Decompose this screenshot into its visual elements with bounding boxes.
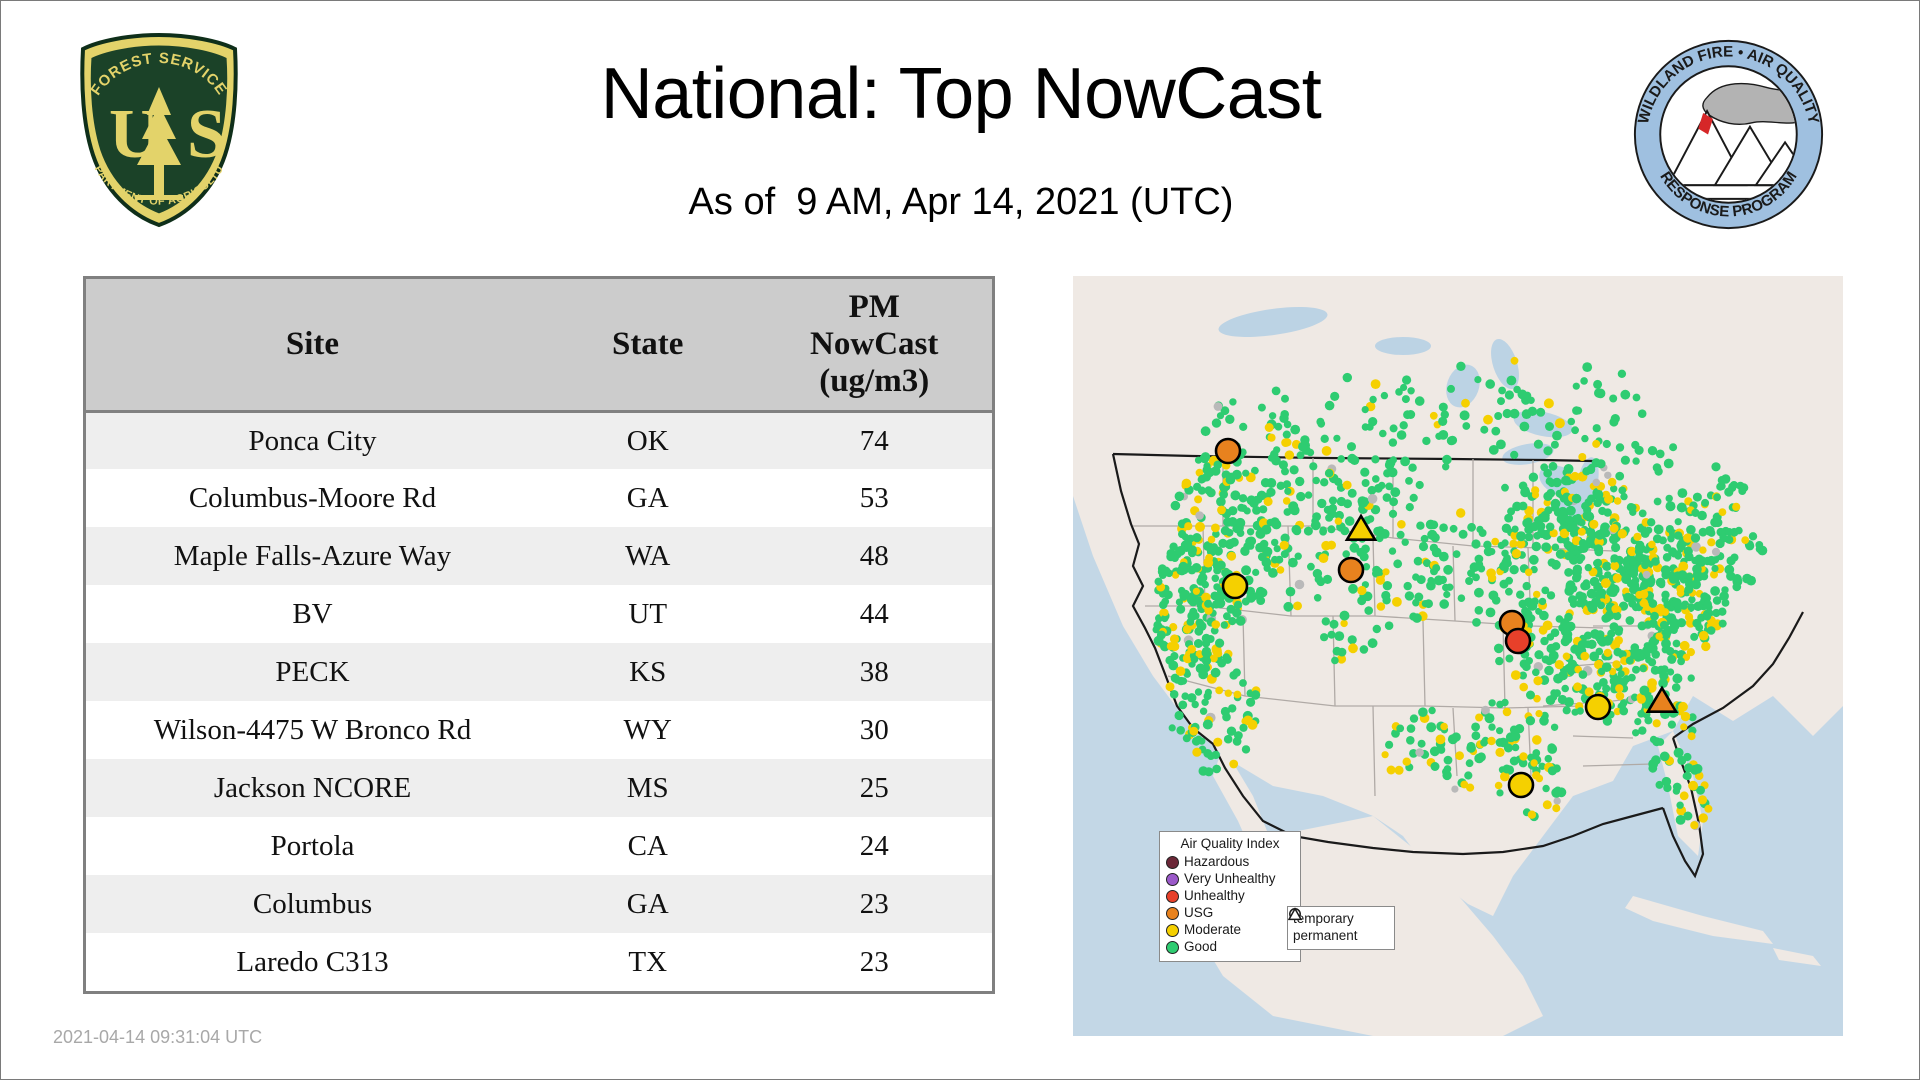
monitor-dot [1641, 562, 1649, 570]
monitor-dot [1662, 777, 1671, 786]
monitor-dot [1439, 523, 1448, 532]
monitor-dot [1247, 495, 1257, 505]
monitor-dot [1540, 637, 1548, 645]
monitor-dot [1639, 665, 1647, 673]
monitor-dot [1611, 543, 1620, 552]
monitor-dot [1187, 693, 1196, 702]
monitor-dot [1501, 484, 1509, 492]
monitor-dot [1192, 612, 1200, 620]
site-cell: BV [86, 585, 539, 643]
site-cell: PECK [86, 643, 539, 701]
monitor-dot [1578, 640, 1587, 649]
monitor-dot [1407, 387, 1414, 394]
monitor-dot [1467, 523, 1476, 532]
monitor-dot [1673, 640, 1681, 648]
monitor-dot [1531, 597, 1539, 605]
monitor-dot [1639, 510, 1647, 518]
legend-label-temporary: temporary [1293, 911, 1354, 927]
table-row: BVUT44 [86, 585, 992, 643]
pm-nowcast-cell: 53 [756, 469, 992, 527]
monitor-dot [1202, 581, 1209, 588]
monitor-dot [1534, 440, 1543, 449]
monitor-dot [1261, 478, 1270, 487]
monitor-dot [1566, 544, 1574, 552]
monitor-dot [1447, 385, 1455, 393]
monitor-dot [1746, 576, 1756, 586]
monitor-dot [1461, 399, 1470, 408]
monitor-dot [1451, 732, 1460, 741]
monitor-dot [1664, 459, 1674, 469]
monitor-dot [1688, 603, 1696, 611]
monitor-dot [1373, 625, 1381, 633]
site-cell: Ponca City [86, 411, 539, 469]
monitor-dot [1507, 507, 1515, 515]
monitor-dot [1496, 727, 1503, 734]
monitor-dot [1160, 641, 1168, 649]
monitor-dot [1213, 566, 1221, 574]
monitor-dot [1540, 463, 1548, 471]
monitor-dot [1713, 596, 1722, 605]
monitor-dot [1609, 395, 1617, 403]
monitor-dot [1581, 502, 1589, 510]
air-quality-map[interactable]: Air Quality Index HazardousVery Unhealth… [1073, 276, 1843, 1036]
map-marker-temporary[interactable] [1506, 629, 1530, 653]
monitor-dot [1494, 644, 1504, 654]
monitor-dot [1699, 813, 1708, 822]
monitor-dot [1648, 446, 1657, 455]
monitor-dot [1498, 387, 1506, 395]
monitor-dot [1548, 766, 1557, 775]
monitor-dot [1577, 707, 1584, 714]
monitor-dot [1580, 377, 1588, 385]
monitor-dot [1602, 662, 1612, 672]
monitor-dot [1690, 821, 1698, 829]
monitor-dot [1573, 565, 1582, 574]
monitor-dot [1296, 492, 1305, 501]
monitor-dot [1615, 684, 1623, 692]
monitor-dot [1618, 370, 1626, 378]
monitor-dot [1730, 528, 1739, 537]
monitor-dot [1604, 649, 1612, 657]
monitor-dot [1618, 529, 1627, 538]
monitor-dot [1466, 759, 1474, 767]
monitor-dot [1400, 384, 1407, 391]
monitor-dot [1586, 601, 1594, 609]
monitor-dot [1621, 456, 1630, 465]
monitor-dot [1666, 495, 1673, 502]
monitor-dot [1483, 415, 1493, 425]
monitor-dot [1495, 657, 1503, 665]
monitor-dot [1177, 567, 1185, 575]
monitor-dot [1337, 455, 1345, 463]
monitor-dot [1572, 494, 1582, 504]
table-header-row: Site State PM NowCast (ug/m3) [86, 279, 992, 411]
monitor-dot [1512, 549, 1521, 558]
monitor-dot [1286, 587, 1296, 597]
monitor-dot [1688, 674, 1695, 681]
monitor-dot [1636, 541, 1644, 549]
monitor-dot [1703, 612, 1711, 620]
monitor-dot [1385, 483, 1393, 491]
monitor-dot [1397, 531, 1405, 539]
monitor-dot [1227, 552, 1236, 561]
monitor-dot [1648, 764, 1657, 773]
monitor-dot [1503, 409, 1512, 418]
monitor-dot [1407, 724, 1416, 733]
state-cell: MS [539, 759, 756, 817]
monitor-dot [1656, 578, 1666, 588]
monitor-dot [1684, 763, 1693, 772]
monitor-dot [1264, 565, 1271, 572]
monitor-dot [1402, 375, 1411, 384]
monitor-dot [1321, 541, 1331, 551]
monitor-dot [1592, 440, 1600, 448]
monitor-dot [1526, 716, 1535, 725]
monitor-dot [1489, 445, 1499, 455]
site-cell: Portola [86, 817, 539, 875]
monitor-dot [1364, 606, 1373, 615]
monitor-dot [1406, 503, 1414, 511]
monitor-dot [1698, 795, 1707, 804]
monitor-dot [1371, 379, 1381, 389]
monitor-dot [1325, 514, 1333, 522]
monitor-dot [1634, 718, 1641, 725]
monitor-dot [1711, 565, 1718, 572]
monitor-dot [1547, 644, 1557, 654]
monitor-dot [1170, 652, 1178, 660]
monitor-dot [1466, 784, 1474, 792]
monitor-dot [1546, 489, 1555, 498]
monitor-dot [1442, 455, 1452, 465]
pm-header-line-2: NowCast [760, 326, 988, 363]
monitor-dot [1372, 475, 1380, 483]
monitor-dot [1563, 635, 1572, 644]
monitor-dot [1222, 713, 1231, 722]
monitor-dot [1176, 666, 1186, 676]
monitor-dot [1314, 594, 1322, 602]
monitor-dot [1438, 430, 1448, 440]
monitor-dot [1526, 691, 1535, 700]
monitor-dot [1330, 620, 1339, 629]
monitor-dot [1602, 562, 1611, 571]
monitor-dot [1224, 735, 1233, 744]
monitor-dot [1337, 497, 1346, 506]
monitor-dot [1465, 577, 1473, 585]
monitor-dot [1265, 423, 1274, 432]
monitor-dot [1727, 556, 1736, 565]
monitor-dot [1701, 499, 1709, 507]
monitor-dot [1519, 683, 1528, 692]
monitor-dot [1218, 539, 1227, 548]
monitor-dot [1194, 639, 1203, 648]
monitor-dot [1304, 527, 1313, 536]
monitor-dot [1516, 531, 1526, 541]
monitor-dot [1641, 529, 1650, 538]
monitor-dot [1458, 594, 1466, 602]
monitor-dot [1182, 533, 1189, 540]
monitor-dot [1645, 656, 1652, 663]
monitor-dot [1545, 422, 1554, 431]
site-cell: Maple Falls-Azure Way [86, 527, 539, 585]
monitor-dot [1230, 490, 1240, 500]
monitor-dot [1560, 509, 1567, 516]
monitor-dot [1474, 376, 1481, 383]
monitor-dot [1235, 518, 1245, 528]
monitor-dot [1442, 463, 1449, 470]
monitor-dot [1430, 544, 1438, 552]
monitor-dot [1430, 412, 1438, 420]
monitor-dot [1663, 544, 1671, 552]
monitor-dot [1719, 533, 1726, 540]
monitor-dot [1239, 494, 1247, 502]
monitor-dot [1631, 648, 1641, 658]
monitor-dot [1415, 396, 1425, 406]
monitor-dot [1701, 642, 1710, 651]
monitor-dot [1342, 550, 1350, 558]
monitor-dot [1610, 524, 1619, 533]
monitor-dot [1582, 362, 1592, 372]
monitor-dot [1212, 765, 1221, 774]
monitor-dot [1566, 516, 1574, 524]
monitor-dot [1405, 477, 1413, 485]
monitor-dot [1340, 620, 1347, 627]
pm-nowcast-cell: 74 [756, 411, 992, 469]
monitor-dot [1389, 510, 1397, 518]
monitor-dot [1635, 591, 1643, 599]
monitor-dot [1320, 526, 1327, 533]
monitor-dot [1233, 668, 1241, 676]
map-marker-temporary[interactable] [1216, 439, 1240, 463]
monitor-dot [1722, 599, 1730, 607]
aqi-color-swatch [1166, 941, 1179, 954]
aqi-legend-label: Very Unhealthy [1184, 871, 1276, 887]
map-marker-temporary[interactable] [1339, 558, 1363, 582]
map-marker-temporary[interactable] [1223, 574, 1247, 598]
monitor-dot [1610, 585, 1620, 595]
monitor-dot [1550, 693, 1557, 700]
monitor-dot [1587, 495, 1595, 503]
monitor-dot [1594, 490, 1603, 499]
monitor-dot [1552, 431, 1562, 441]
map-marker-temporary[interactable] [1586, 695, 1610, 719]
monitor-dot [1674, 552, 1682, 560]
monitor-dot [1169, 724, 1176, 731]
monitor-dot [1528, 811, 1536, 819]
state-cell: KS [539, 643, 756, 701]
monitor-dot [1580, 652, 1589, 661]
monitor-dot [1677, 618, 1686, 627]
monitor-dot [1587, 529, 1594, 536]
monitor-dot [1719, 508, 1727, 516]
monitor-dot [1561, 685, 1569, 693]
monitor-dot [1312, 512, 1321, 521]
monitor-dot [1214, 402, 1223, 411]
monitor-dot [1368, 417, 1377, 426]
monitor-dot [1258, 404, 1266, 412]
monitor-dot [1674, 748, 1684, 758]
monitor-dot [1415, 748, 1424, 757]
monitor-dot [1551, 441, 1559, 449]
monitor-dot [1707, 626, 1716, 635]
monitor-dot [1543, 446, 1552, 455]
monitor-dot [1561, 476, 1571, 486]
monitor-dot [1650, 612, 1659, 621]
monitor-dot [1609, 535, 1619, 545]
slide-page: U S FOREST SERVICE DEPARTMENT OF AGRICUL… [0, 0, 1920, 1080]
pm-nowcast-cell: 38 [756, 643, 992, 701]
monitor-dot [1393, 559, 1402, 568]
monitor-dot [1392, 597, 1402, 607]
monitor-dot [1594, 544, 1603, 553]
monitor-dot [1474, 562, 1481, 569]
monitor-dot [1390, 424, 1398, 432]
monitor-dot [1579, 670, 1588, 679]
monitor-dot [1182, 479, 1192, 489]
monitor-dot [1510, 451, 1518, 459]
monitor-dot [1438, 417, 1447, 426]
monitor-dot [1536, 408, 1545, 417]
monitor-dot [1285, 450, 1294, 459]
monitor-dot [1593, 380, 1602, 389]
monitor-dot [1221, 621, 1228, 628]
pm-nowcast-cell: 25 [756, 759, 992, 817]
monitor-dot [1525, 610, 1532, 617]
site-cell: Wilson-4475 W Bronco Rd [86, 701, 539, 759]
monitor-dot [1688, 781, 1698, 791]
monitor-dot [1685, 613, 1693, 621]
monitor-dot [1343, 481, 1352, 490]
monitor-dot [1436, 735, 1446, 745]
monitor-dot [1488, 574, 1496, 582]
monitor-dot [1535, 710, 1542, 717]
monitor-dot [1598, 589, 1606, 597]
site-cell: Laredo C313 [86, 933, 539, 991]
monitor-dot [1419, 542, 1428, 551]
monitor-dot [1496, 789, 1503, 796]
monitor-dot [1580, 582, 1589, 591]
monitor-dot [1728, 484, 1736, 492]
monitor-dot [1227, 727, 1236, 736]
monitor-dot [1208, 536, 1216, 544]
monitor-dot [1272, 520, 1282, 530]
monitor-dot [1533, 532, 1541, 540]
monitor-dot [1210, 543, 1218, 551]
monitor-dot [1505, 588, 1513, 596]
monitor-dot [1281, 550, 1289, 558]
monitor-dot [1486, 608, 1496, 618]
monitor-dot [1368, 638, 1378, 648]
monitor-dot [1623, 675, 1631, 683]
monitor-dot [1529, 555, 1539, 565]
monitor-dot [1568, 418, 1576, 426]
table-row: PortolaCA24 [86, 817, 992, 875]
monitor-dot [1675, 518, 1682, 525]
monitor-dot [1382, 568, 1389, 575]
monitor-dot [1211, 524, 1220, 533]
monitor-dot [1176, 605, 1185, 614]
pm-nowcast-cell: 44 [756, 585, 992, 643]
state-cell: GA [539, 875, 756, 933]
monitor-dot [1205, 554, 1213, 562]
monitor-dot [1183, 625, 1192, 634]
monitor-dot [1523, 582, 1531, 590]
monitor-dot [1191, 655, 1199, 663]
column-header-state: State [539, 279, 756, 411]
monitor-dot [1167, 549, 1176, 558]
state-cell: OK [539, 411, 756, 469]
monitor-dot [1703, 557, 1712, 566]
monitor-dot [1654, 498, 1662, 506]
monitor-dot [1649, 599, 1658, 608]
aqi-legend-label: Moderate [1184, 922, 1241, 938]
monitor-dot [1155, 578, 1163, 586]
monitor-dot [1177, 677, 1185, 685]
monitor-dot [1325, 469, 1333, 477]
monitor-dot [1651, 666, 1660, 675]
monitor-dot [1710, 586, 1720, 596]
monitor-dot [1637, 695, 1646, 704]
monitor-dot [1377, 602, 1386, 611]
monitor-dot [1712, 548, 1720, 556]
pm-nowcast-cell: 48 [756, 527, 992, 585]
monitor-dot [1320, 633, 1328, 641]
monitor-dot [1198, 670, 1208, 680]
aqi-legend-row: Unhealthy [1166, 888, 1294, 905]
monitor-dot [1404, 582, 1412, 590]
monitor-dot [1192, 748, 1201, 757]
monitor-dot [1309, 462, 1317, 470]
monitor-dot [1638, 726, 1646, 734]
monitor-dot [1690, 633, 1698, 641]
monitor-dot [1612, 660, 1620, 668]
monitor-dot [1357, 586, 1366, 595]
monitor-dot [1400, 457, 1410, 467]
monitor-dot [1239, 724, 1247, 732]
monitor-dot [1171, 501, 1181, 511]
monitor-dot [1193, 588, 1200, 595]
monitor-dot [1175, 492, 1185, 502]
monitor-dot [1403, 758, 1411, 766]
monitor-dot [1639, 686, 1649, 696]
monitor-dot [1519, 502, 1528, 511]
aqi-legend-label: Hazardous [1184, 854, 1249, 870]
monitor-dot [1680, 723, 1687, 730]
table-row: Wilson-4475 W Bronco RdWY30 [86, 701, 992, 759]
monitor-dot [1277, 482, 1285, 490]
monitor-dot [1215, 639, 1224, 648]
monitor-dot [1676, 802, 1683, 809]
monitor-dot [1385, 741, 1393, 749]
monitor-dot [1340, 611, 1350, 621]
monitor-dot [1666, 647, 1675, 656]
monitor-dot [1480, 739, 1488, 747]
monitor-dot [1564, 568, 1573, 577]
monitor-dot [1494, 412, 1502, 420]
map-marker-temporary[interactable] [1509, 773, 1533, 797]
monitor-dot [1553, 787, 1562, 796]
monitor-dot [1406, 736, 1415, 745]
monitor-dot [1255, 590, 1263, 598]
monitor-dot [1574, 407, 1582, 415]
monitor-dot [1204, 486, 1212, 494]
monitor-dot [1432, 564, 1440, 572]
monitor-dot [1305, 491, 1312, 498]
monitor-dot [1578, 554, 1585, 561]
monitor-dot [1502, 765, 1511, 774]
monitor-dot [1613, 612, 1622, 621]
monitor-dot [1204, 692, 1212, 700]
monitor-dot [1216, 598, 1226, 608]
